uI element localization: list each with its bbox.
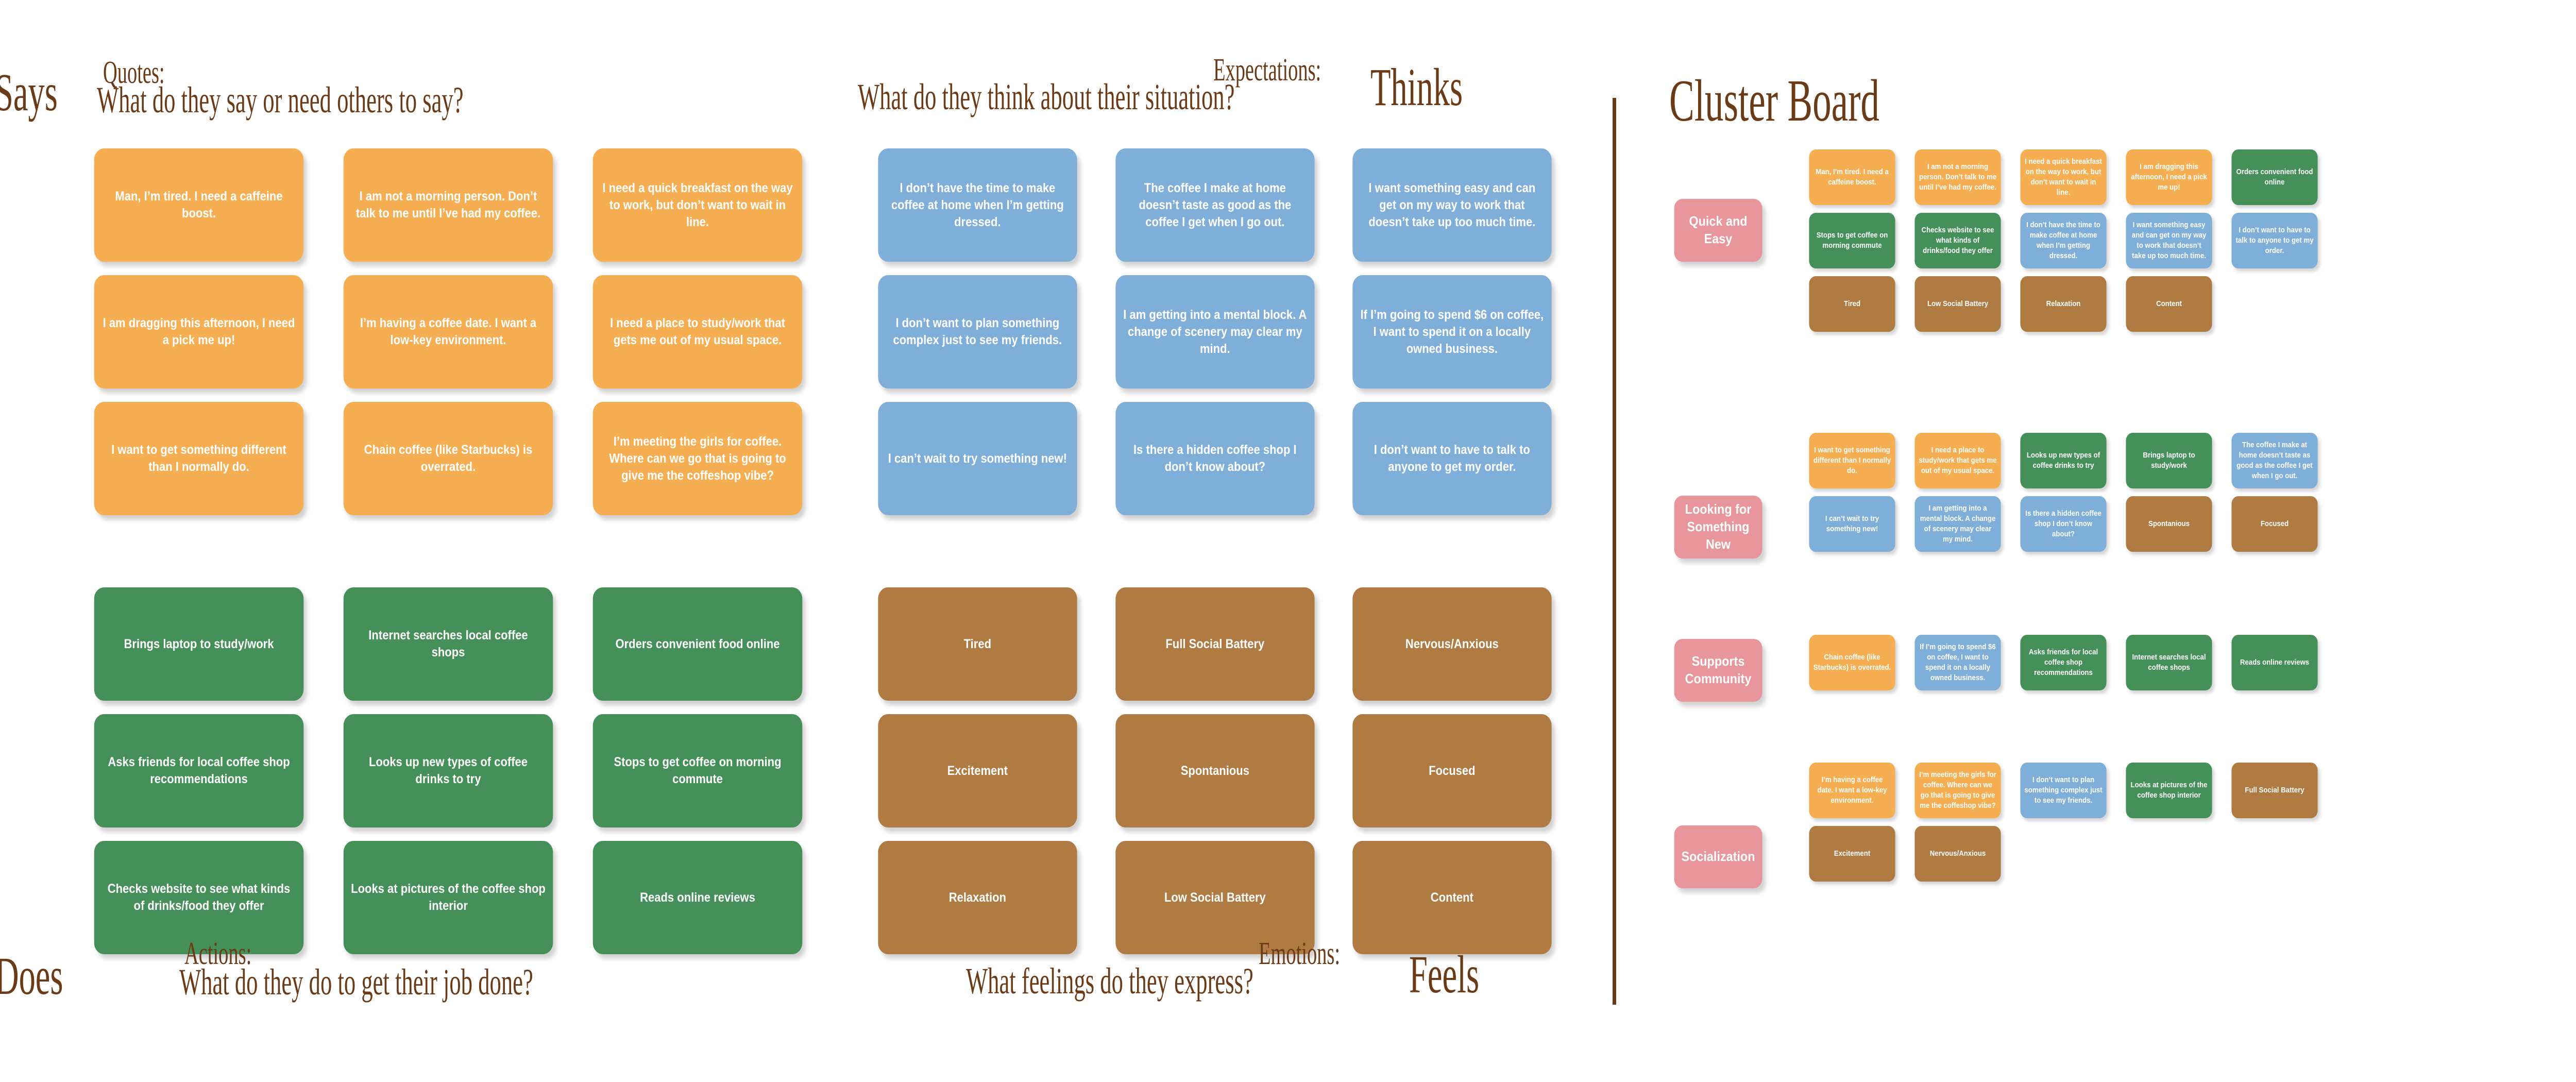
sticky-note[interactable]: Focused <box>1353 714 1552 827</box>
cluster-board-title: Cluster Board <box>1669 67 1879 136</box>
cluster-sticky-note-text: If I’m going to spend $6 on coffee, I wa… <box>1919 642 1996 683</box>
cluster-sticky-note[interactable]: I am not a morning person. Don’t talk to… <box>1914 149 2001 205</box>
sticky-note-text: I’m meeting the girls for coffee. Where … <box>600 433 795 484</box>
sticky-note[interactable]: Full Social Battery <box>1115 587 1314 701</box>
sticky-note-text: Relaxation <box>949 889 1006 906</box>
sticky-note-text: Asks friends for local coffee shop recom… <box>101 754 296 788</box>
sticky-note-text: Excitement <box>947 763 1008 780</box>
sticky-note[interactable]: Stops to get coffee on morning commute <box>593 714 803 827</box>
sticky-note[interactable]: I can’t wait to try something new! <box>878 402 1077 515</box>
cluster-card-grid: Chain coffee (like Starbucks) is overrat… <box>1803 635 2324 690</box>
cluster-sticky-note-text: Orders convenient food online <box>2235 167 2313 188</box>
cluster-sticky-note[interactable]: Internet searches local coffee shops <box>2126 635 2212 690</box>
cluster-sticky-note[interactable]: If I’m going to spend $6 on coffee, I wa… <box>1914 635 2001 690</box>
cluster-label-text: Looking for Something New <box>1674 501 1762 553</box>
cluster-row: Looking for Something NewI want to get s… <box>1669 433 2324 559</box>
cluster-sticky-note[interactable]: I don’t want to plan something complex j… <box>2020 763 2106 818</box>
sticky-note-text: Content <box>1431 889 1473 906</box>
cluster-sticky-note[interactable]: I need a quick breakfast on the way to w… <box>2020 149 2106 205</box>
cluster-sticky-note[interactable]: Excitement <box>1809 826 1895 882</box>
sticky-note[interactable]: I want to get something different than I… <box>94 402 304 515</box>
sticky-note-text: I can’t wait to try something new! <box>888 450 1067 467</box>
feels-sublabel: Emotions: <box>1259 938 1340 970</box>
cluster-sticky-note-text: I need a place to study/work that gets m… <box>1919 445 1996 476</box>
sticky-note[interactable]: Nervous/Anxious <box>1353 587 1552 701</box>
cluster-sticky-note-text: Checks website to see what kinds of drin… <box>1919 225 1996 256</box>
cluster-sticky-note-text: Is there a hidden coffee shop I don’t kn… <box>2024 509 2102 539</box>
cluster-sticky-note[interactable]: Nervous/Anxious <box>1914 826 2001 882</box>
sticky-note[interactable]: Asks friends for local coffee shop recom… <box>94 714 304 827</box>
sticky-note-text: Spontanious <box>1180 763 1249 780</box>
sticky-note-text: Chain coffee (like Starbucks) is overrat… <box>351 442 546 476</box>
cluster-sticky-note-text: Reads online reviews <box>2240 657 2309 668</box>
feels-question: What feelings do they express? <box>966 962 1253 1000</box>
sticky-note-text: I am not a morning person. Don’t talk to… <box>351 188 546 222</box>
cluster-card-grid: Man, I’m tired. I need a caffeine boost.… <box>1803 149 2324 332</box>
sticky-note[interactable]: I am getting into a mental block. A chan… <box>1115 275 1314 388</box>
cluster-sticky-note[interactable]: I want something easy and can get on my … <box>2126 213 2212 268</box>
sticky-note-text: I am getting into a mental block. A chan… <box>1123 307 1307 358</box>
sticky-note[interactable]: I don’t have the time to make coffee at … <box>878 148 1077 262</box>
cluster-sticky-note[interactable]: Spontanious <box>2126 496 2212 552</box>
cluster-sticky-note-text: Spontanious <box>2148 519 2190 529</box>
cluster-sticky-note[interactable]: Content <box>2126 276 2212 332</box>
cluster-sticky-note[interactable]: I’m meeting the girls for coffee. Where … <box>1914 763 2001 818</box>
sticky-note[interactable]: I need a place to study/work that gets m… <box>593 275 803 388</box>
cluster-sticky-note-text: Excitement <box>1834 849 1870 859</box>
cluster-sticky-note-text: Stops to get coffee on morning commute <box>1813 230 1891 251</box>
sticky-note-text: I don’t have the time to make coffee at … <box>885 180 1070 231</box>
sticky-note[interactable]: I am dragging this afternoon, I need a p… <box>94 275 304 388</box>
cluster-sticky-note-text: Brings laptop to study/work <box>2130 450 2208 471</box>
cluster-sticky-note-text: Content <box>2156 299 2182 309</box>
cluster-label[interactable]: Quick and Easy <box>1674 199 1762 262</box>
sticky-note[interactable]: Is there a hidden coffee shop I don’t kn… <box>1115 402 1314 515</box>
cluster-sticky-note[interactable]: Focused <box>2231 496 2317 552</box>
sticky-note-text: Man, I’m tired. I need a caffeine boost. <box>101 188 296 222</box>
sticky-note-text: I don’t want to have to talk to anyone t… <box>1360 442 1545 476</box>
sticky-note[interactable]: Spontanious <box>1115 714 1314 827</box>
cluster-label[interactable]: Socialization <box>1674 825 1762 888</box>
sticky-note[interactable]: Chain coffee (like Starbucks) is overrat… <box>344 402 553 515</box>
sticky-note[interactable]: I’m meeting the girls for coffee. Where … <box>593 402 803 515</box>
sticky-note-text: I want something easy and can get on my … <box>1360 180 1545 231</box>
cluster-sticky-note[interactable]: I want to get something different than I… <box>1809 433 1895 488</box>
cluster-sticky-note-text: Internet searches local coffee shops <box>2130 652 2208 673</box>
sticky-note-text: The coffee I make at home doesn’t taste … <box>1123 180 1307 231</box>
says-quadrant-grid: Man, I’m tired. I need a caffeine boost.… <box>80 148 817 515</box>
sticky-note[interactable]: Looks up new types of coffee drinks to t… <box>344 714 553 827</box>
cluster-sticky-note[interactable]: Orders convenient food online <box>2231 149 2317 205</box>
cluster-card-grid: I’m having a coffee date. I want a low-k… <box>1803 763 2324 882</box>
sticky-note-text: Nervous/Anxious <box>1405 636 1499 653</box>
cluster-label-text: Socialization <box>1681 848 1755 866</box>
cluster-label-text: Quick and Easy <box>1674 213 1762 248</box>
cluster-sticky-note-text: Man, I’m tired. I need a caffeine boost. <box>1813 167 1891 188</box>
cluster-sticky-note-text: I want something easy and can get on my … <box>2130 220 2208 261</box>
cluster-sticky-note-text: Looks at pictures of the coffee shop int… <box>2130 780 2208 801</box>
cluster-sticky-note-text: I am dragging this afternoon, I need a p… <box>2130 162 2208 192</box>
cluster-sticky-note-text: I’m meeting the girls for coffee. Where … <box>1919 770 1996 810</box>
says-question: What do they say or need others to say? <box>97 81 464 119</box>
sticky-note-text: I am dragging this afternoon, I need a p… <box>101 315 296 349</box>
feels-quadrant-grid: TiredFull Social BatteryNervous/AnxiousE… <box>865 587 1565 954</box>
thinks-quadrant-grid: I don’t have the time to make coffee at … <box>865 148 1565 515</box>
sticky-note-text: I’m having a coffee date. I want a low-k… <box>351 315 546 349</box>
cluster-sticky-note[interactable]: I don’t want to have to talk to anyone t… <box>2231 213 2317 268</box>
sticky-note[interactable]: Brings laptop to study/work <box>94 587 304 701</box>
sticky-note-text: Looks up new types of coffee drinks to t… <box>351 754 546 788</box>
cluster-label[interactable]: Looking for Something New <box>1674 496 1762 559</box>
cluster-row: Quick and EasyMan, I’m tired. I need a c… <box>1669 149 2324 332</box>
sticky-note[interactable]: Orders convenient food online <box>593 587 803 701</box>
sticky-note[interactable]: Relaxation <box>878 841 1077 954</box>
cluster-sticky-note[interactable]: I am getting into a mental block. A chan… <box>1914 496 2001 552</box>
cluster-sticky-note-text: Looks up new types of coffee drinks to t… <box>2024 450 2102 471</box>
cluster-sticky-note-text: Chain coffee (like Starbucks) is overrat… <box>1813 652 1891 673</box>
cluster-sticky-note[interactable]: Man, I’m tired. I need a caffeine boost. <box>1809 149 1895 205</box>
cluster-sticky-note[interactable]: I can’t wait to try something new! <box>1809 496 1895 552</box>
sticky-note-text: Full Social Battery <box>1165 636 1264 653</box>
sticky-note[interactable]: I don’t want to have to talk to anyone t… <box>1353 402 1552 515</box>
sticky-note[interactable]: Content <box>1353 841 1552 954</box>
feels-heading: Feels <box>1409 948 1479 1002</box>
sticky-note-text: I want to get something different than I… <box>101 442 296 476</box>
cluster-card-grid: I want to get something different than I… <box>1803 433 2324 552</box>
cluster-sticky-note[interactable]: Full Social Battery <box>2231 763 2317 818</box>
sticky-note-text: Is there a hidden coffee shop I don’t kn… <box>1123 442 1307 476</box>
cluster-sticky-note-text: I am not a morning person. Don’t talk to… <box>1919 162 1996 192</box>
cluster-sticky-note-text: Focused <box>2261 519 2289 529</box>
sticky-note[interactable]: Reads online reviews <box>593 841 803 954</box>
cluster-label[interactable]: Supports Community <box>1674 639 1762 702</box>
cluster-row: Supports CommunityChain coffee (like Sta… <box>1669 635 2324 702</box>
sticky-note[interactable]: Internet searches local coffee shops <box>344 587 553 701</box>
cluster-sticky-note-text: I don’t have the time to make coffee at … <box>2024 220 2102 261</box>
cluster-sticky-note-text: I’m having a coffee date. I want a low-k… <box>1813 775 1891 805</box>
sticky-note-text: Looks at pictures of the coffee shop int… <box>351 881 546 915</box>
cluster-row: SocializationI’m having a coffee date. I… <box>1669 763 2324 888</box>
section-divider <box>1613 98 1616 1005</box>
sticky-note[interactable]: I’m having a coffee date. I want a low-k… <box>344 275 553 388</box>
sticky-note[interactable]: Tired <box>878 587 1077 701</box>
sticky-note[interactable]: Man, I’m tired. I need a caffeine boost. <box>94 148 304 262</box>
cluster-sticky-note[interactable]: Looks at pictures of the coffee shop int… <box>2126 763 2212 818</box>
sticky-note[interactable]: Excitement <box>878 714 1077 827</box>
says-heading: Says <box>0 66 58 120</box>
does-quadrant-grid: Brings laptop to study/workInternet sear… <box>80 587 817 954</box>
cluster-sticky-note[interactable]: Checks website to see what kinds of drin… <box>1914 213 2001 268</box>
sticky-note[interactable]: Looks at pictures of the coffee shop int… <box>344 841 553 954</box>
cluster-sticky-note-text: The coffee I make at home doesn’t taste … <box>2235 440 2313 481</box>
cluster-sticky-note-text: I don’t want to have to talk to anyone t… <box>2235 225 2313 256</box>
sticky-note-text: Tired <box>964 636 991 653</box>
cluster-sticky-note[interactable]: I am dragging this afternoon, I need a p… <box>2126 149 2212 205</box>
sticky-note[interactable]: I need a quick breakfast on the way to w… <box>593 148 803 262</box>
cluster-sticky-note[interactable]: Is there a hidden coffee shop I don’t kn… <box>2020 496 2106 552</box>
thinks-question: What do they think about their situation… <box>858 78 1234 115</box>
cluster-sticky-note[interactable]: I need a place to study/work that gets m… <box>1914 433 2001 488</box>
sticky-note-text: Stops to get coffee on morning commute <box>600 754 795 788</box>
sticky-note[interactable]: I don’t want to plan something complex j… <box>878 275 1077 388</box>
cluster-sticky-note[interactable]: Looks up new types of coffee drinks to t… <box>2020 433 2106 488</box>
cluster-sticky-note-text: Nervous/Anxious <box>1930 849 1986 859</box>
cluster-sticky-note-text: Full Social Battery <box>2245 785 2304 796</box>
sticky-note-text: If I’m going to spend $6 on coffee, I wa… <box>1360 307 1545 358</box>
sticky-note[interactable]: I want something easy and can get on my … <box>1353 148 1552 262</box>
empathy-map-canvas: Says Quotes: What do they say or need ot… <box>0 0 2576 1082</box>
does-heading: Does <box>0 950 63 1003</box>
sticky-note-text: Internet searches local coffee shops <box>351 627 546 661</box>
sticky-note-text: Orders convenient food online <box>615 636 779 653</box>
cluster-sticky-note[interactable]: Relaxation <box>2020 276 2106 332</box>
cluster-sticky-note[interactable]: I don’t have the time to make coffee at … <box>2020 213 2106 268</box>
sticky-note-text: I need a place to study/work that gets m… <box>600 315 795 349</box>
cluster-sticky-note[interactable]: Stops to get coffee on morning commute <box>1809 213 1895 268</box>
cluster-sticky-note-text: Low Social Battery <box>1927 299 1988 309</box>
sticky-note[interactable]: If I’m going to spend $6 on coffee, I wa… <box>1353 275 1552 388</box>
cluster-sticky-note-text: Asks friends for local coffee shop recom… <box>2024 647 2102 678</box>
sticky-note-text: Checks website to see what kinds of drin… <box>101 881 296 915</box>
cluster-sticky-note-text: I can’t wait to try something new! <box>1813 514 1891 534</box>
cluster-sticky-note[interactable]: Asks friends for local coffee shop recom… <box>2020 635 2106 690</box>
sticky-note-text: I don’t want to plan something complex j… <box>885 315 1070 349</box>
sticky-note-text: I need a quick breakfast on the way to w… <box>600 180 795 231</box>
cluster-sticky-note-text: I am getting into a mental block. A chan… <box>1919 503 1996 544</box>
cluster-sticky-note-text: I want to get something different than I… <box>1813 445 1891 476</box>
cluster-sticky-note-text: I don’t want to plan something complex j… <box>2024 775 2102 805</box>
cluster-sticky-note[interactable]: Low Social Battery <box>1914 276 2001 332</box>
sticky-note-text: Brings laptop to study/work <box>124 636 274 653</box>
cluster-sticky-note[interactable]: I’m having a coffee date. I want a low-k… <box>1809 763 1895 818</box>
does-question: What do they do to get their job done? <box>179 963 533 1001</box>
sticky-note[interactable]: I am not a morning person. Don’t talk to… <box>344 148 553 262</box>
cluster-sticky-note[interactable]: Reads online reviews <box>2231 635 2317 690</box>
sticky-note-text: Reads online reviews <box>640 889 755 906</box>
cluster-sticky-note-text: Tired <box>1844 299 1860 309</box>
sticky-note-text: Low Social Battery <box>1164 889 1266 906</box>
cluster-sticky-note[interactable]: Chain coffee (like Starbucks) is overrat… <box>1809 635 1895 690</box>
cluster-sticky-note[interactable]: Brings laptop to study/work <box>2126 433 2212 488</box>
thinks-heading: Thinks <box>1370 61 1463 114</box>
sticky-note-text: Focused <box>1429 763 1475 780</box>
sticky-note[interactable]: The coffee I make at home doesn’t taste … <box>1115 148 1314 262</box>
cluster-sticky-note[interactable]: Tired <box>1809 276 1895 332</box>
cluster-sticky-note[interactable]: The coffee I make at home doesn’t taste … <box>2231 433 2317 488</box>
cluster-sticky-note-text: Relaxation <box>2046 299 2081 309</box>
cluster-label-text: Supports Community <box>1674 653 1762 688</box>
cluster-sticky-note-text: I need a quick breakfast on the way to w… <box>2024 157 2102 197</box>
